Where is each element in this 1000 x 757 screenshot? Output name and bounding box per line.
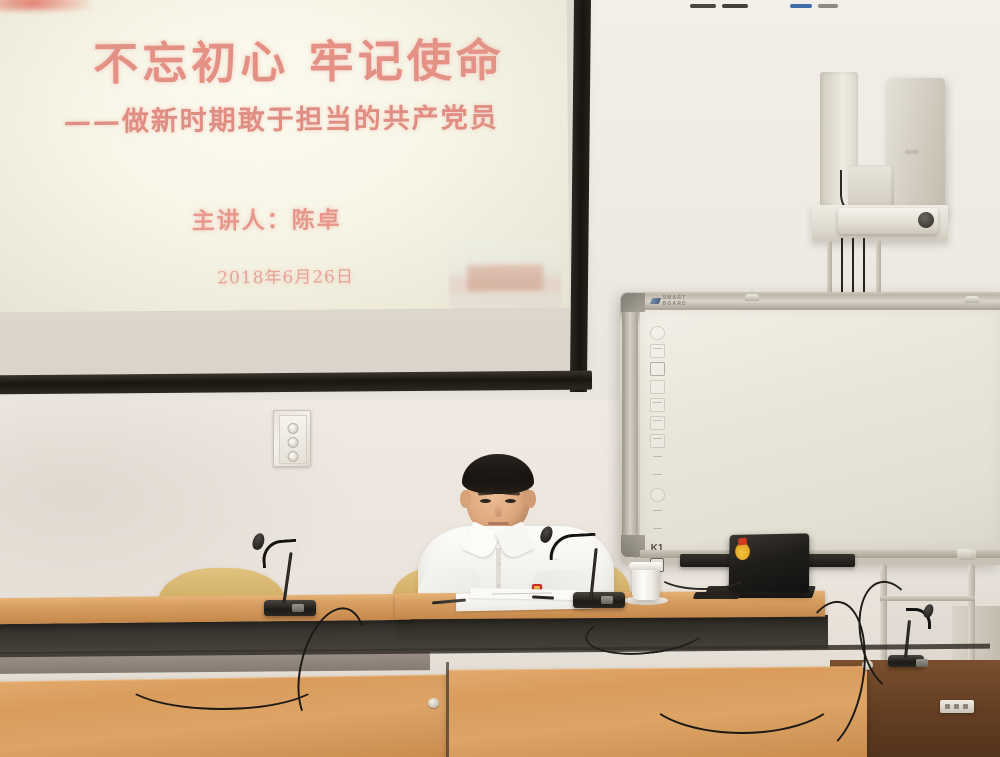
slide-subtitle: ——做新时期敢于担当的共产党员 (64, 95, 544, 139)
whiteboard-surface[interactable] (640, 310, 1000, 550)
socket-icon (954, 704, 959, 709)
tray-pen-black[interactable] (690, 4, 716, 8)
wall-outlet-plate (957, 549, 971, 558)
ear-left (460, 490, 471, 508)
screen-stop-button[interactable] (288, 437, 299, 448)
shelf-support-left (827, 241, 832, 299)
slide-title: 不忘初心 牢记使命 (93, 24, 514, 93)
panel-divider (446, 662, 449, 757)
save-icon[interactable] (650, 344, 665, 358)
mic-base[interactable] (573, 592, 625, 608)
whiteboard-clip[interactable] (965, 296, 979, 303)
tray-eraser[interactable] (818, 4, 838, 8)
nose (495, 504, 502, 517)
panel-fastener-icon (428, 698, 439, 708)
palette-icon[interactable] (650, 326, 665, 340)
projector-wire (841, 238, 843, 298)
screen-bottom-bar (0, 371, 592, 395)
power-strip[interactable] (940, 700, 974, 713)
socket-icon (963, 704, 968, 709)
slide-speaker-label: 主讲人：陈卓 (192, 200, 342, 235)
shirt-button (497, 584, 501, 588)
whiteboard-corner-top-left (621, 293, 645, 312)
screen-down-button[interactable] (288, 451, 299, 462)
socket-icon (945, 704, 950, 709)
shelf-support-right (876, 241, 881, 299)
screen-capture-icon[interactable] (650, 434, 665, 448)
slide-date: 2018年6月26日 (217, 262, 354, 288)
highlighter-icon[interactable] (650, 506, 665, 520)
laptop-sticker-icon (735, 543, 750, 560)
screen-right-border (570, 0, 591, 392)
whiteboard-toolbar[interactable]: K1 ✕ (648, 326, 666, 572)
page-forward-icon[interactable] (650, 398, 665, 412)
shirt-button (497, 562, 501, 566)
whiteboard-clip[interactable] (745, 294, 759, 301)
eye-right (505, 499, 516, 503)
pen-icon[interactable] (650, 452, 665, 466)
lecture-room-photo: 不忘初心 牢记使命 ——做新时期敢于担当的共产党员 主讲人：陈卓 2018年6月… (0, 0, 1000, 757)
wall-control-plate[interactable] (273, 410, 311, 467)
laptop-trackpad[interactable] (693, 592, 742, 599)
tray-pen-black[interactable] (722, 4, 748, 8)
whiteboard-brand-logo: SMART BOARD (651, 297, 699, 305)
shapes-icon[interactable] (650, 470, 665, 484)
eraser-icon[interactable] (650, 488, 665, 502)
eye-left (480, 499, 491, 503)
new-page-icon[interactable] (650, 380, 665, 394)
tray-pen-blue[interactable] (790, 4, 812, 8)
page-back-icon[interactable] (650, 416, 665, 430)
mic-base[interactable] (264, 600, 316, 616)
select-rect-icon[interactable] (650, 362, 665, 376)
wall-speaker (887, 78, 945, 218)
screen-up-button[interactable] (288, 423, 299, 434)
brand-mark-icon (650, 298, 661, 304)
speaker-brand-mark (905, 150, 919, 154)
documents-top-sheet[interactable] (470, 588, 578, 600)
switch-inner (279, 415, 307, 464)
projection-screen: 不忘初心 牢记使命 ——做新时期敢于担当的共产党员 主讲人：陈卓 2018年6月… (0, 0, 602, 398)
projector-lens-icon (918, 212, 934, 228)
projector-wire (852, 238, 854, 298)
hair (462, 454, 534, 494)
cable (656, 556, 750, 590)
ear-right (525, 490, 536, 508)
projector-wire (863, 238, 865, 298)
projected-slide: 不忘初心 牢记使命 ——做新时期敢于担当的共产党员 主讲人：陈卓 2018年6月… (0, 0, 570, 315)
slide-building-photo (449, 238, 562, 315)
brand-text: SMART BOARD (663, 295, 699, 307)
mouth (488, 522, 509, 525)
pointer-icon[interactable] (650, 524, 665, 538)
cable (120, 646, 324, 710)
